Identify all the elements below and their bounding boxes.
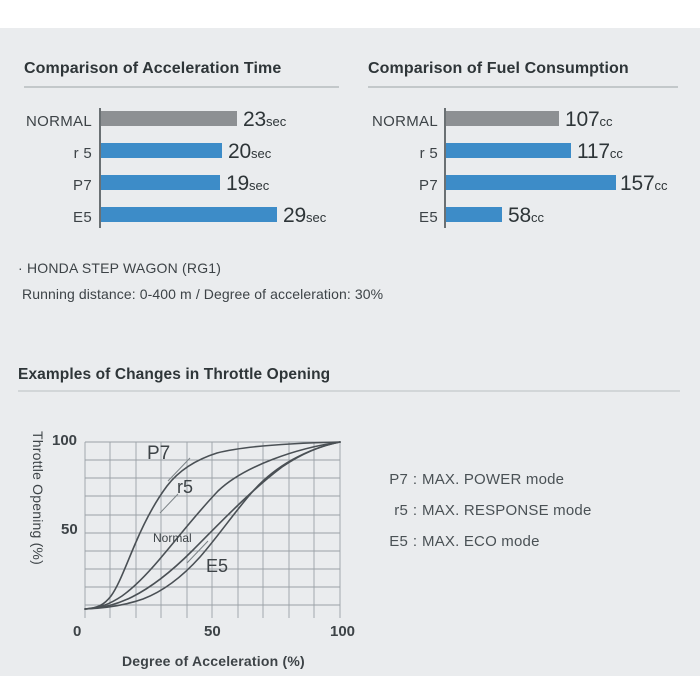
acceleration-value-normal: 23sec	[243, 108, 286, 132]
legend-key-e5: E5	[382, 533, 408, 550]
acceleration-value-unit: sec	[266, 114, 286, 129]
legend-text-e5: MAX. ECO mode	[422, 533, 540, 550]
legend-row-p7: P7:MAX. POWER mode	[382, 471, 564, 488]
fuel-value-normal: 107cc	[565, 108, 612, 132]
fuel-category-label: r 5	[350, 145, 438, 162]
acceleration-category-label: P7	[4, 177, 92, 194]
acceleration-category-label: NORMAL	[4, 113, 92, 130]
note-vehicle: · HONDA STEP WAGON (RG1)	[18, 260, 221, 276]
infographic-canvas: Comparison of Acceleration Time NORMAL 2…	[0, 28, 700, 676]
legend-text-p7: MAX. POWER mode	[422, 471, 564, 488]
fuel-value-p7: 157cc	[620, 172, 667, 196]
acceleration-value-number: 19	[226, 172, 249, 195]
acceleration-chart-title: Comparison of Acceleration Time	[24, 60, 281, 78]
acceleration-bar-e5	[101, 207, 277, 222]
throttle-curve-normal	[85, 442, 340, 609]
throttle-curve-label-e5: E5	[206, 556, 228, 577]
throttle-line-chart: Throttle Opening (%) 100 50 0 50 100 Deg…	[12, 423, 372, 668]
throttle-section-title: Examples of Changes in Throttle Opening	[18, 366, 330, 384]
throttle-curve-label-r5: r5	[177, 477, 193, 498]
fuel-value-unit: cc	[531, 210, 544, 225]
fuel-value-e5: 58cc	[508, 204, 544, 228]
fuel-value-unit: cc	[610, 146, 623, 161]
fuel-value-number: 157	[620, 172, 654, 195]
fuel-category-label: E5	[350, 209, 438, 226]
fuel-value-unit: cc	[654, 178, 667, 193]
acceleration-value-number: 20	[228, 140, 251, 163]
throttle-curve-p7	[85, 442, 340, 609]
fuel-value-r5: 117cc	[577, 140, 623, 164]
acceleration-value-unit: sec	[251, 146, 271, 161]
acceleration-value-p7: 19sec	[226, 172, 269, 196]
fuel-bar-r5	[446, 143, 571, 158]
acceleration-value-e5: 29sec	[283, 204, 326, 228]
fuel-value-unit: cc	[599, 114, 612, 129]
acceleration-value-r5: 20sec	[228, 140, 271, 164]
fuel-category-label: P7	[350, 177, 438, 194]
acceleration-bar-normal	[101, 111, 237, 126]
acceleration-value-unit: sec	[306, 210, 326, 225]
legend-key-r5: r5	[382, 502, 408, 519]
throttle-plot-svg	[12, 423, 372, 668]
fuel-value-number: 117	[577, 140, 610, 163]
legend-key-p7: P7	[382, 471, 408, 488]
fuel-chart-title: Comparison of Fuel Consumption	[368, 60, 629, 78]
throttle-curve-r5	[85, 442, 340, 609]
fuel-value-number: 107	[565, 108, 599, 131]
fuel-bar-p7	[446, 175, 616, 190]
legend-text-r5: MAX. RESPONSE mode	[422, 502, 592, 519]
note-conditions: Running distance: 0-400 m / Degree of ac…	[22, 286, 383, 302]
throttle-curve-e5	[85, 442, 340, 609]
throttle-curve-label-normal: Normal	[153, 531, 192, 545]
legend-separator: :	[408, 533, 422, 550]
acceleration-value-unit: sec	[249, 178, 269, 193]
throttle-title-rule	[18, 390, 680, 392]
acceleration-bar-r5	[101, 143, 222, 158]
acceleration-bar-p7	[101, 175, 220, 190]
fuel-title-rule	[368, 86, 678, 88]
acceleration-category-label: E5	[4, 209, 92, 226]
fuel-value-number: 58	[508, 204, 531, 227]
acceleration-value-number: 23	[243, 108, 266, 131]
fuel-category-label: NORMAL	[350, 113, 438, 130]
throttle-curve-label-p7: P7	[147, 443, 170, 465]
legend-separator: :	[408, 471, 422, 488]
fuel-bar-e5	[446, 207, 502, 222]
acceleration-value-number: 29	[283, 204, 306, 227]
legend-separator: :	[408, 502, 422, 519]
acceleration-category-label: r 5	[4, 145, 92, 162]
fuel-bar-normal	[446, 111, 559, 126]
legend-row-r5: r5:MAX. RESPONSE mode	[382, 502, 592, 519]
acceleration-title-rule	[24, 86, 339, 88]
legend-row-e5: E5:MAX. ECO mode	[382, 533, 540, 550]
